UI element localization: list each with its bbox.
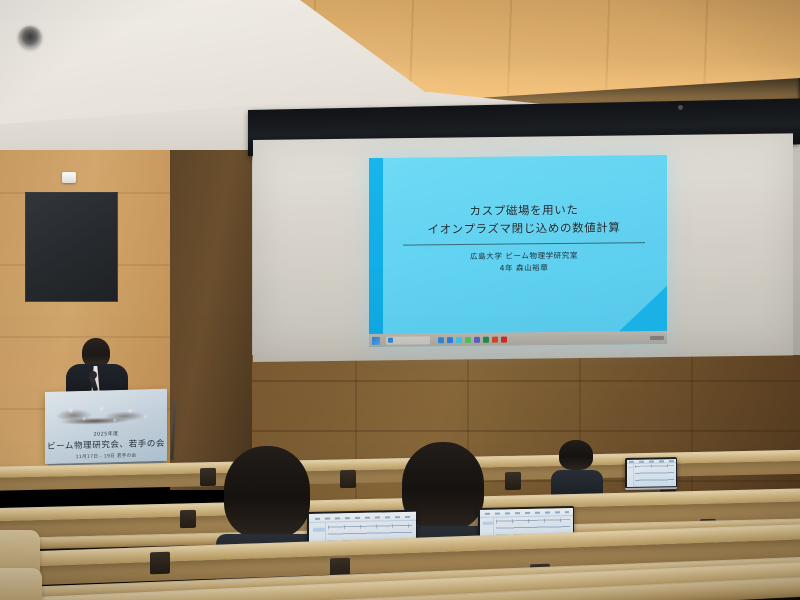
excel-icon[interactable] <box>483 336 489 342</box>
desk-bracket <box>505 472 521 490</box>
taskbar-system-tray[interactable] <box>650 335 664 339</box>
attendee-head <box>224 446 310 538</box>
projected-slide[interactable]: カスプ磁場を用いた イオンプラズマ閉じ込めの数値計算 広島大学 ビーム物理学研究… <box>369 155 667 347</box>
microphone-head-icon <box>89 371 97 379</box>
seat-end-panel <box>0 568 42 600</box>
desk-bracket <box>200 468 216 486</box>
laptop-app-ribbon <box>480 508 573 518</box>
taskbar-search-input[interactable] <box>386 336 430 344</box>
windows-start-icon[interactable] <box>372 336 380 344</box>
attendee-head <box>559 440 593 470</box>
network-icon[interactable] <box>650 335 664 339</box>
laptop-selected-item <box>313 527 325 531</box>
file-explorer-icon[interactable] <box>438 337 444 343</box>
teams-icon[interactable] <box>474 336 480 342</box>
laptop-selected-item <box>483 521 493 524</box>
slide-background: カスプ磁場を用いた イオンプラズマ閉じ込めの数値計算 広島大学 ビーム物理学研究… <box>369 155 667 347</box>
slide-presenter: 4年 森山裕章 <box>389 261 659 276</box>
ceiling-downlight-icon <box>18 26 42 50</box>
desk-bracket <box>340 470 356 488</box>
desk-bracket <box>150 552 170 575</box>
powerpoint-icon[interactable] <box>492 336 498 342</box>
laptop-back-right[interactable] <box>625 457 677 490</box>
laptop-selected-item <box>628 466 633 468</box>
audience-seating <box>0 400 800 600</box>
laptop-lid <box>625 457 677 488</box>
laptop-screen[interactable] <box>627 459 676 487</box>
slide-accent-band <box>369 158 383 347</box>
laptop-rows <box>635 465 674 485</box>
acrobat-icon[interactable] <box>501 336 507 342</box>
slide-divider-rule <box>403 242 645 246</box>
desk-bracket <box>180 510 196 528</box>
mail-icon[interactable] <box>447 337 453 343</box>
slide-title-line2: イオンプラズマ閉じ込めの数値計算 <box>389 219 659 240</box>
valance-mount-dot <box>678 105 683 110</box>
lecture-hall-scene: カスプ磁場を用いた イオンプラズマ閉じ込めの数値計算 広島大学 ビーム物理学研究… <box>0 0 800 600</box>
edge-icon[interactable] <box>456 337 462 343</box>
slide-content: カスプ磁場を用いた イオンプラズマ閉じ込めの数値計算 広島大学 ビーム物理学研究… <box>389 201 659 276</box>
search-icon <box>388 338 393 343</box>
chrome-icon[interactable] <box>465 336 471 342</box>
attendee-back-right <box>553 440 599 496</box>
laptop-app-ribbon <box>309 511 416 523</box>
wall-sensor-box-icon <box>62 172 76 183</box>
acoustic-panel <box>25 192 118 302</box>
taskbar-app-icons[interactable] <box>438 336 507 343</box>
